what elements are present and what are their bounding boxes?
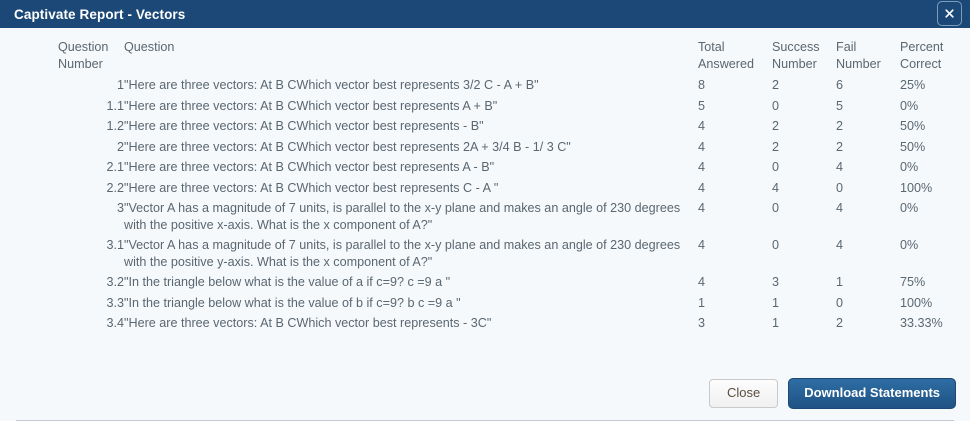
table-row: 3"Vector A has a magnitude of 7 units, i… — [58, 198, 970, 235]
cell-total-answered: 4 — [698, 116, 772, 137]
cell-fail-number: 2 — [836, 116, 900, 137]
total-answered-header-line1: Total — [698, 39, 772, 56]
column-header-success-number: Success Number — [772, 39, 836, 75]
cell-fail-number: 1 — [836, 272, 900, 293]
percent-correct-header-line1: Percent — [900, 39, 970, 56]
cell-question-text: "In the triangle below what is the value… — [124, 272, 698, 293]
cell-success-number: 0 — [772, 157, 836, 178]
cell-total-answered: 4 — [698, 137, 772, 158]
table-row: 3.3"In the triangle below what is the va… — [58, 293, 970, 314]
close-icon — [943, 7, 956, 20]
cell-percent-correct: 33.33% — [900, 313, 970, 334]
cell-fail-number: 4 — [836, 198, 900, 235]
cell-total-answered: 8 — [698, 75, 772, 96]
cell-question-text: "Vector A has a magnitude of 7 units, is… — [124, 235, 698, 272]
table-row: 2.2"Here are three vectors: At B CWhich … — [58, 178, 970, 199]
cell-fail-number: 5 — [836, 96, 900, 117]
cell-question-number: 2 — [58, 137, 124, 158]
dialog-titlebar: Captivate Report - Vectors — [0, 0, 970, 28]
report-body: Question Number Question Total Answered … — [0, 28, 970, 365]
cell-question-number: 1.1 — [58, 96, 124, 117]
table-row: 2"Here are three vectors: At B CWhich ve… — [58, 137, 970, 158]
cell-question-text: "Vector A has a magnitude of 7 units, is… — [124, 198, 698, 235]
cell-fail-number: 2 — [836, 137, 900, 158]
cell-success-number: 2 — [772, 137, 836, 158]
table-row: 1.1"Here are three vectors: At B CWhich … — [58, 96, 970, 117]
cell-total-answered: 4 — [698, 235, 772, 272]
cell-question-text: "Here are three vectors: At B CWhich vec… — [124, 96, 698, 117]
question-number-header-line2: Number — [58, 56, 124, 73]
dialog-footer: Close Download Statements — [0, 365, 970, 421]
cell-question-number: 3.1 — [58, 235, 124, 272]
success-number-header-line1: Success — [772, 39, 836, 56]
cell-question-number: 3.2 — [58, 272, 124, 293]
fail-number-header-line2: Number — [836, 56, 900, 73]
cell-total-answered: 4 — [698, 178, 772, 199]
cell-percent-correct: 0% — [900, 235, 970, 272]
cell-question-number: 3 — [58, 198, 124, 235]
dialog-title: Captivate Report - Vectors — [0, 7, 185, 22]
cell-total-answered: 4 — [698, 157, 772, 178]
cell-percent-correct: 50% — [900, 137, 970, 158]
cell-question-number: 2.2 — [58, 178, 124, 199]
table-row: 3.4"Here are three vectors: At B CWhich … — [58, 313, 970, 334]
cell-success-number: 4 — [772, 178, 836, 199]
captivate-report-dialog: Captivate Report - Vectors Question Numb… — [0, 0, 970, 421]
cell-question-text: "Here are three vectors: At B CWhich vec… — [124, 116, 698, 137]
table-body: 1"Here are three vectors: At B CWhich ve… — [58, 75, 970, 334]
table-row: 3.1"Vector A has a magnitude of 7 units,… — [58, 235, 970, 272]
download-statements-button[interactable]: Download Statements — [788, 378, 956, 409]
cell-question-text: "Here are three vectors: At B CWhich vec… — [124, 313, 698, 334]
success-number-header-line2: Number — [772, 56, 836, 73]
column-header-question: Question — [124, 39, 698, 75]
cell-fail-number: 0 — [836, 178, 900, 199]
cell-question-number: 1.2 — [58, 116, 124, 137]
cell-percent-correct: 100% — [900, 178, 970, 199]
cell-fail-number: 6 — [836, 75, 900, 96]
cell-question-text: "Here are three vectors: At B CWhich vec… — [124, 157, 698, 178]
cell-total-answered: 3 — [698, 313, 772, 334]
cell-total-answered: 1 — [698, 293, 772, 314]
cell-question-number: 1 — [58, 75, 124, 96]
cell-question-text: "In the triangle below what is the value… — [124, 293, 698, 314]
cell-fail-number: 0 — [836, 293, 900, 314]
cell-success-number: 0 — [772, 198, 836, 235]
cell-question-text: "Here are three vectors: At B CWhich vec… — [124, 178, 698, 199]
cell-percent-correct: 25% — [900, 75, 970, 96]
cell-total-answered: 5 — [698, 96, 772, 117]
cell-question-number: 2.1 — [58, 157, 124, 178]
column-header-question-number: Question Number — [58, 39, 124, 75]
column-header-fail-number: Fail Number — [836, 39, 900, 75]
cell-question-number: 3.3 — [58, 293, 124, 314]
cell-success-number: 1 — [772, 293, 836, 314]
fail-number-header-line1: Fail — [836, 39, 900, 56]
cell-percent-correct: 0% — [900, 198, 970, 235]
close-dialog-button[interactable] — [937, 1, 962, 26]
table-row: 2.1"Here are three vectors: At B CWhich … — [58, 157, 970, 178]
cell-percent-correct: 100% — [900, 293, 970, 314]
cell-question-text: "Here are three vectors: At B CWhich vec… — [124, 137, 698, 158]
cell-success-number: 1 — [772, 313, 836, 334]
cell-percent-correct: 75% — [900, 272, 970, 293]
column-header-percent-correct: Percent Correct — [900, 39, 970, 75]
cell-fail-number: 4 — [836, 235, 900, 272]
cell-percent-correct: 0% — [900, 96, 970, 117]
close-button[interactable]: Close — [709, 379, 778, 408]
cell-success-number: 2 — [772, 116, 836, 137]
table-header-row: Question Number Question Total Answered … — [58, 39, 970, 75]
table-row: 1"Here are three vectors: At B CWhich ve… — [58, 75, 970, 96]
table-row: 3.2"In the triangle below what is the va… — [58, 272, 970, 293]
cell-success-number: 2 — [772, 75, 836, 96]
table-row: 1.2"Here are three vectors: At B CWhich … — [58, 116, 970, 137]
cell-fail-number: 4 — [836, 157, 900, 178]
cell-success-number: 0 — [772, 96, 836, 117]
cell-success-number: 0 — [772, 235, 836, 272]
cell-total-answered: 4 — [698, 198, 772, 235]
cell-success-number: 3 — [772, 272, 836, 293]
column-header-total-answered: Total Answered — [698, 39, 772, 75]
cell-percent-correct: 50% — [900, 116, 970, 137]
percent-correct-header-line2: Correct — [900, 56, 970, 73]
cell-percent-correct: 0% — [900, 157, 970, 178]
cell-total-answered: 4 — [698, 272, 772, 293]
table-header: Question Number Question Total Answered … — [58, 39, 970, 75]
report-table: Question Number Question Total Answered … — [58, 39, 970, 334]
cell-question-text: "Here are three vectors: At B CWhich vec… — [124, 75, 698, 96]
cell-question-number: 3.4 — [58, 313, 124, 334]
cell-fail-number: 2 — [836, 313, 900, 334]
total-answered-header-line2: Answered — [698, 56, 772, 73]
question-number-header-line1: Question — [58, 39, 124, 56]
